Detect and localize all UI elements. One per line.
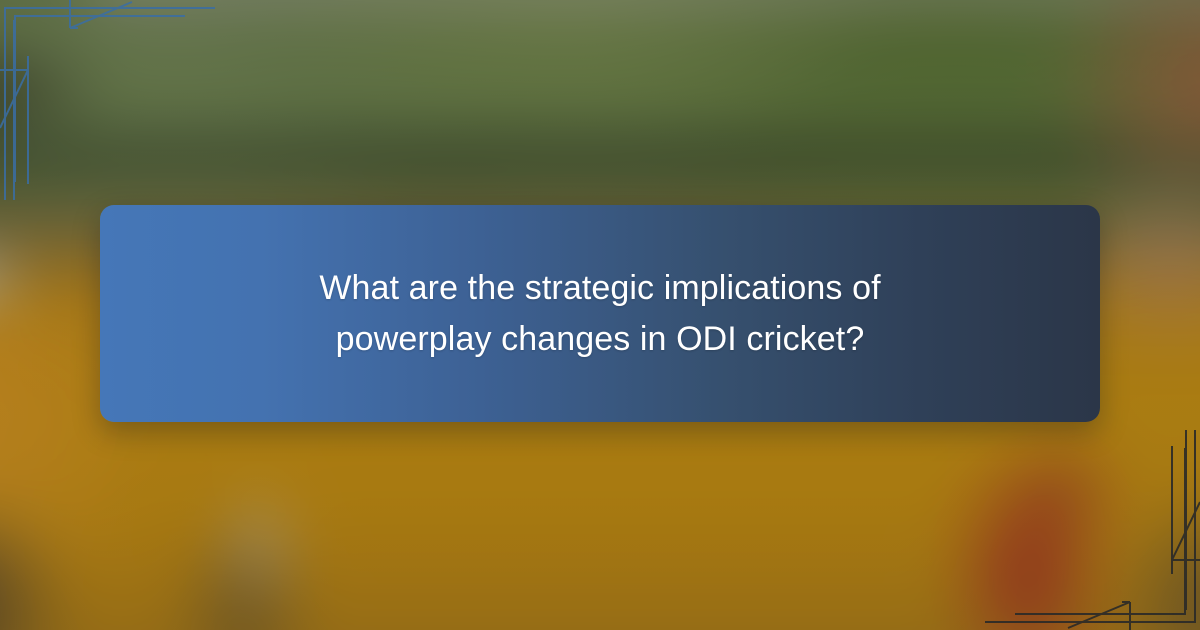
promo-banner: What are the strategic implications of p… [0, 0, 1200, 630]
question-line-1: What are the strategic implications of [150, 263, 1050, 314]
question-card: What are the strategic implications of p… [100, 205, 1100, 422]
question-text: What are the strategic implications of p… [150, 263, 1050, 365]
question-line-2: powerplay changes in ODI cricket? [150, 314, 1050, 365]
